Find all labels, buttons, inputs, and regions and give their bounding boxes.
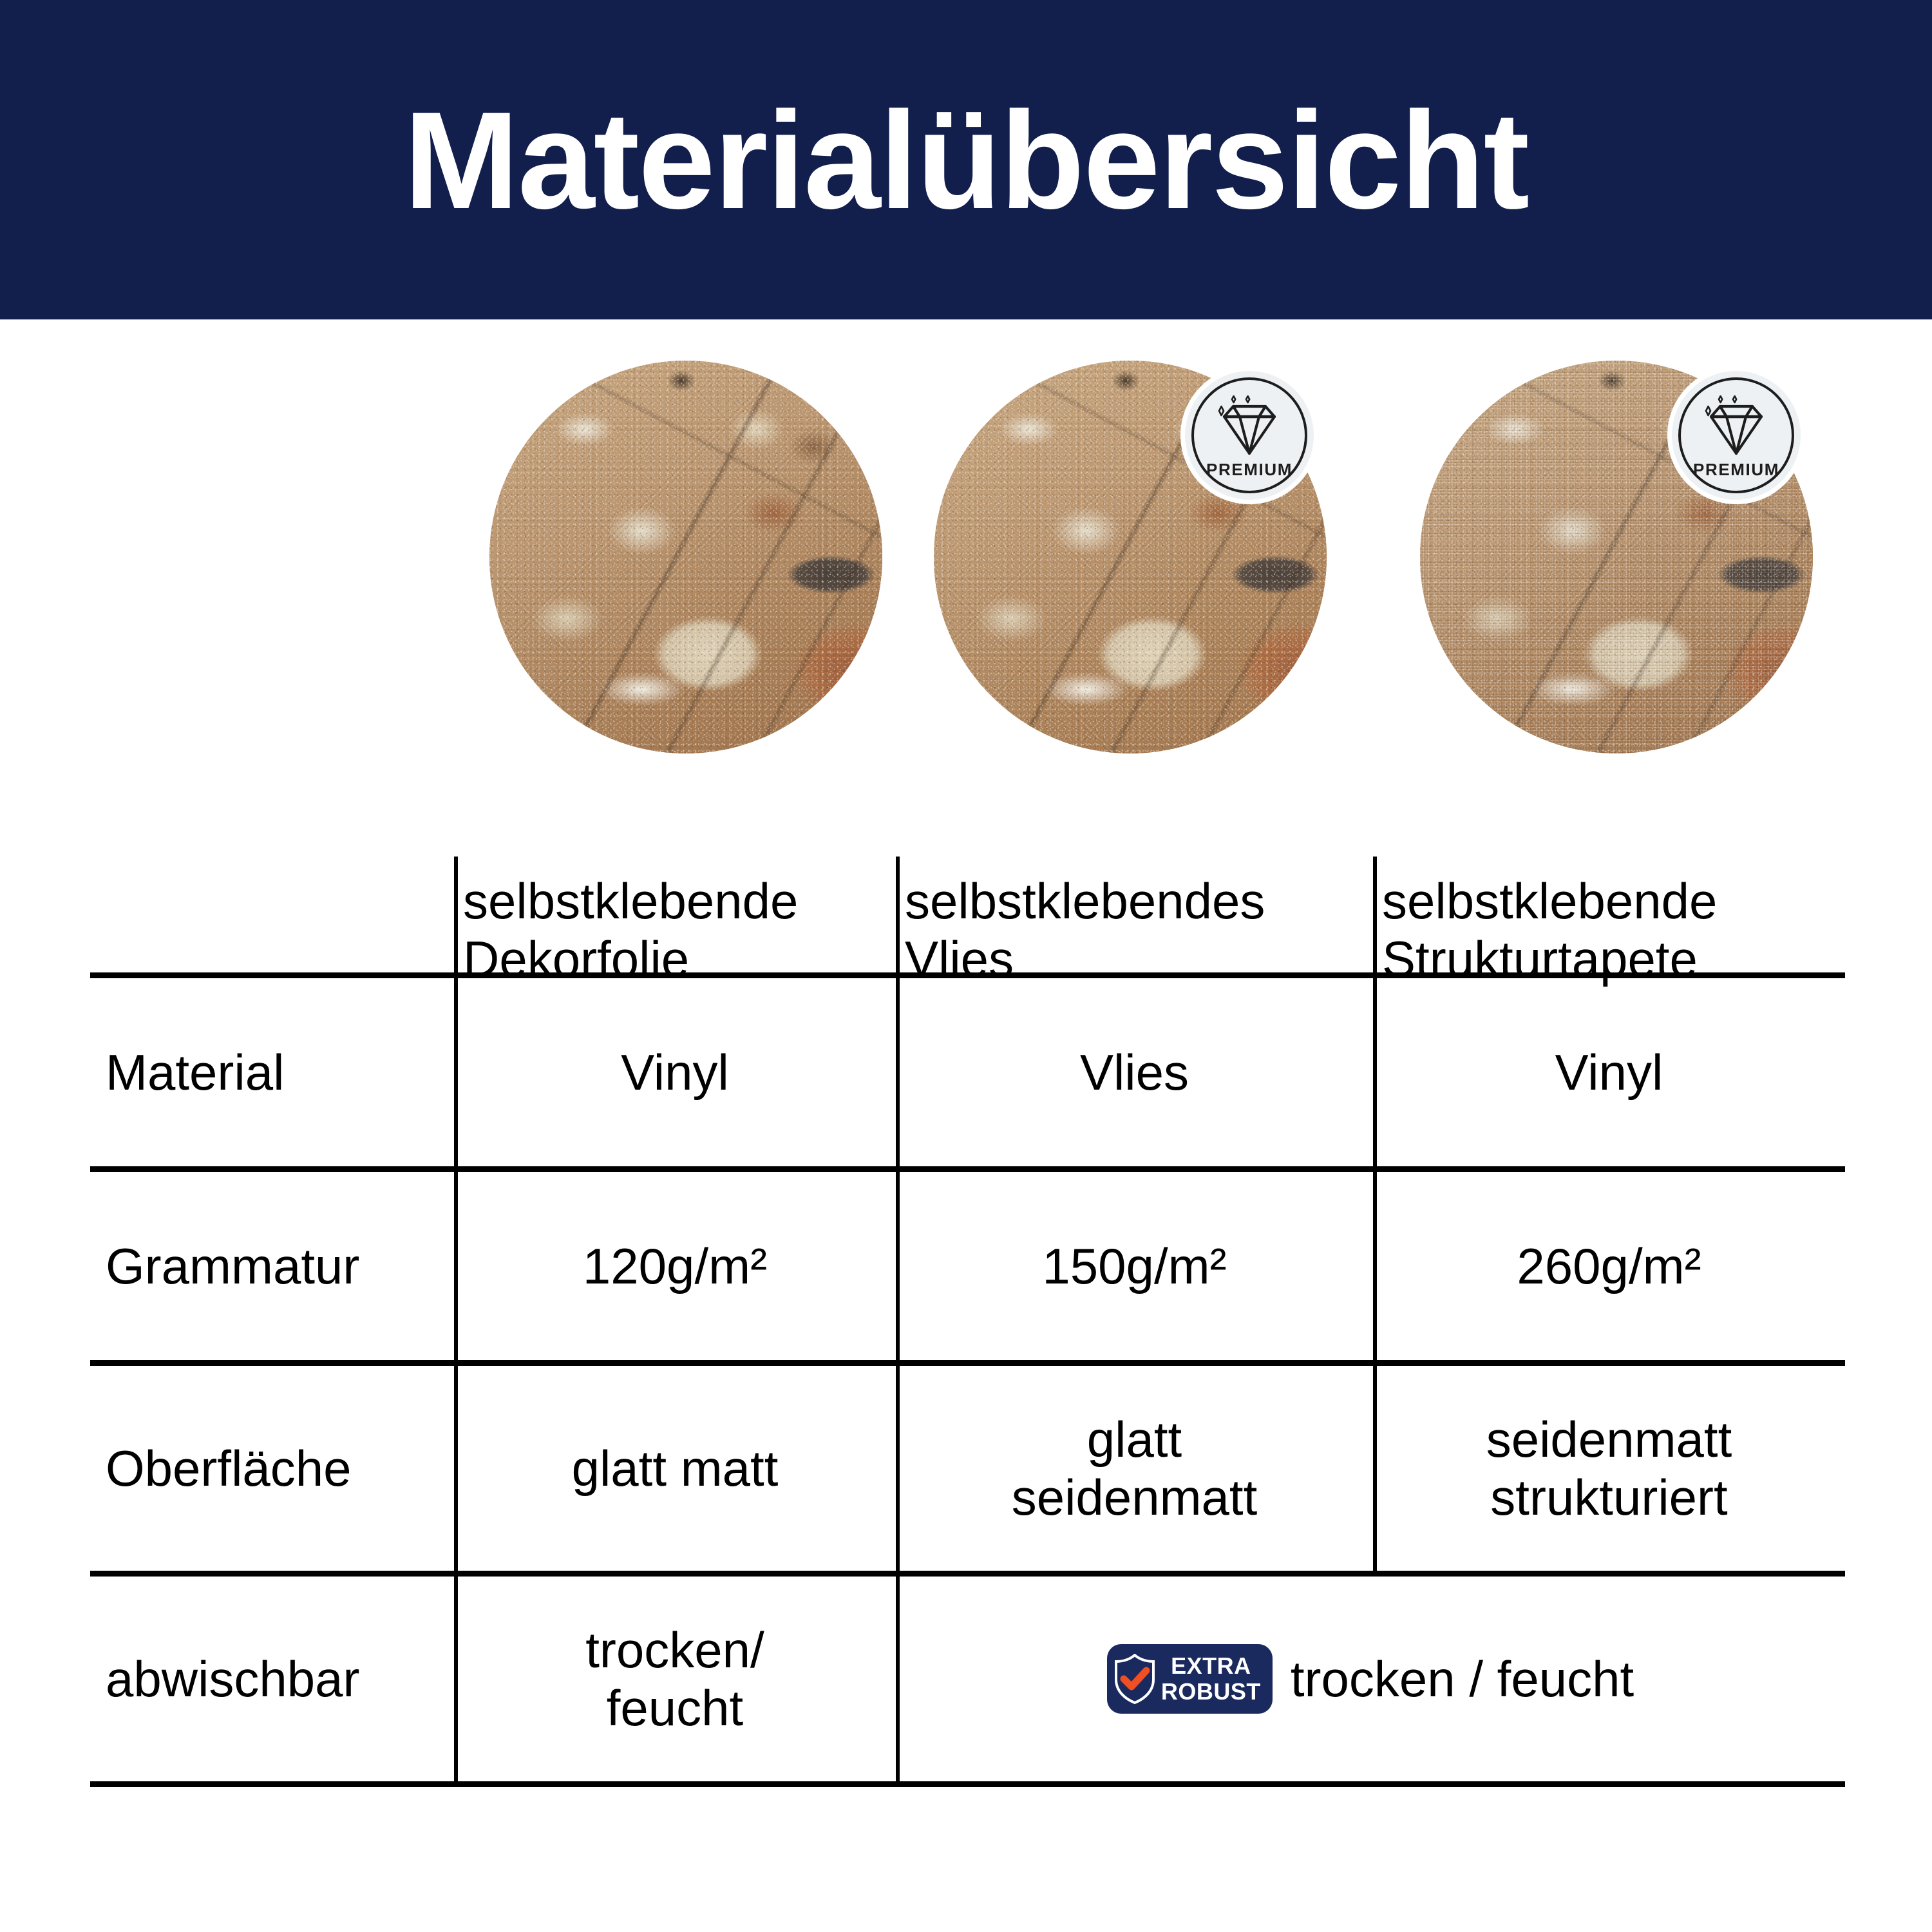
shield-check-icon (1113, 1654, 1156, 1704)
cell-line-2: seidenmatt (1012, 1468, 1258, 1526)
page-title: Materialübersicht (404, 91, 1528, 229)
table-header-row: selbstklebende Dekorfolie selbstklebende… (90, 857, 1845, 972)
material-comparison-table: selbstklebende Dekorfolie selbstklebende… (90, 857, 1845, 1787)
column-divider-3 (1373, 978, 1377, 1166)
column-divider-1 (454, 1577, 458, 1781)
premium-badge-vlies: PREMIUM (1185, 371, 1314, 500)
preview-circle-dekorfolie (489, 361, 882, 753)
cell-vlies: 150g/m² (896, 1172, 1373, 1360)
table-row-grammatur: Grammatur 120g/m² 150g/m² 260g/m² (90, 1172, 1845, 1360)
table-header-blank (90, 867, 454, 972)
table-row-oberflaeche: Oberfläche glatt matt glatt seidenmatt s… (90, 1366, 1845, 1571)
column-divider-3 (1373, 1172, 1377, 1360)
diamond-icon (1698, 395, 1774, 457)
header-line-1: selbstklebende (1382, 872, 1717, 930)
header-line-1: selbstklebendes (905, 872, 1265, 930)
preview-dekorfolie[interactable] (489, 361, 882, 753)
row-label: Material (90, 978, 454, 1166)
page-header: Materialübersicht (0, 0, 1932, 319)
column-divider-2 (896, 1577, 900, 1781)
cell-strukturtapete: Vinyl (1373, 978, 1845, 1166)
row-divider (90, 1571, 1845, 1577)
premium-badge-label: PREMIUM (1693, 460, 1779, 480)
extra-robust-badge: EXTRA ROBUST (1107, 1644, 1273, 1714)
table-header-dekorfolie: selbstklebende Dekorfolie (454, 867, 896, 972)
column-divider-1 (454, 1172, 458, 1360)
cell-strukturtapete: seidenmatt strukturiert (1373, 1366, 1845, 1571)
cell-vlies: glatt seidenmatt (896, 1366, 1373, 1571)
column-divider-2 (896, 1366, 900, 1571)
robust-line-1: EXTRA (1161, 1654, 1261, 1678)
row-label: Grammatur (90, 1172, 454, 1360)
cell-line-1: trocken/ (585, 1621, 764, 1679)
column-divider-2 (896, 1172, 900, 1360)
column-divider-2 (896, 857, 900, 972)
row-divider-bottom (90, 1781, 1845, 1787)
cell-dekorfolie: 120g/m² (454, 1172, 896, 1360)
cell-dekorfolie: Vinyl (454, 978, 896, 1166)
row-label: abwischbar (90, 1577, 454, 1781)
premium-badge-strukturtapete: PREMIUM (1672, 371, 1801, 500)
column-divider-1 (454, 857, 458, 972)
row-divider (90, 1166, 1845, 1172)
table-row-material: Material Vinyl Vlies Vinyl (90, 978, 1845, 1166)
material-overview-page: Materialübersicht (0, 0, 1932, 1932)
cell-strukturtapete: 260g/m² (1373, 1172, 1845, 1360)
cell-line-2: strukturiert (1486, 1468, 1732, 1526)
row-label: Oberfläche (90, 1366, 454, 1571)
row-divider (90, 1360, 1845, 1366)
cell-dekorfolie: trocken/ feucht (454, 1577, 896, 1781)
merged-value-text: trocken / feucht (1291, 1650, 1634, 1708)
material-previews (0, 361, 1932, 760)
robust-line-2: ROBUST (1161, 1680, 1261, 1703)
header-line-1: selbstklebende (463, 872, 798, 930)
table-header-strukturtapete: selbstklebende Strukturtapete (1373, 867, 1845, 972)
column-divider-2 (896, 978, 900, 1166)
cell-line-1: seidenmatt (1486, 1410, 1732, 1468)
table-header-vlies: selbstklebendes Vlies (896, 867, 1373, 972)
column-divider-1 (454, 1366, 458, 1571)
cell-line-1: glatt (1012, 1410, 1258, 1468)
cell-vlies: Vlies (896, 978, 1373, 1166)
column-divider-3 (1373, 1366, 1377, 1571)
diamond-icon (1211, 395, 1287, 457)
extra-robust-text: EXTRA ROBUST (1161, 1654, 1261, 1703)
column-divider-3 (1373, 857, 1377, 972)
cell-line-2: feucht (585, 1679, 764, 1737)
premium-badge-label: PREMIUM (1206, 460, 1293, 480)
stone-speckle (489, 361, 882, 753)
cell-merged-abwischbar: EXTRA ROBUST trocken / feucht (896, 1577, 1845, 1781)
column-divider-1 (454, 978, 458, 1166)
table-row-abwischbar: abwischbar trocken/ feucht EXTR (90, 1577, 1845, 1781)
cell-dekorfolie: glatt matt (454, 1366, 896, 1571)
